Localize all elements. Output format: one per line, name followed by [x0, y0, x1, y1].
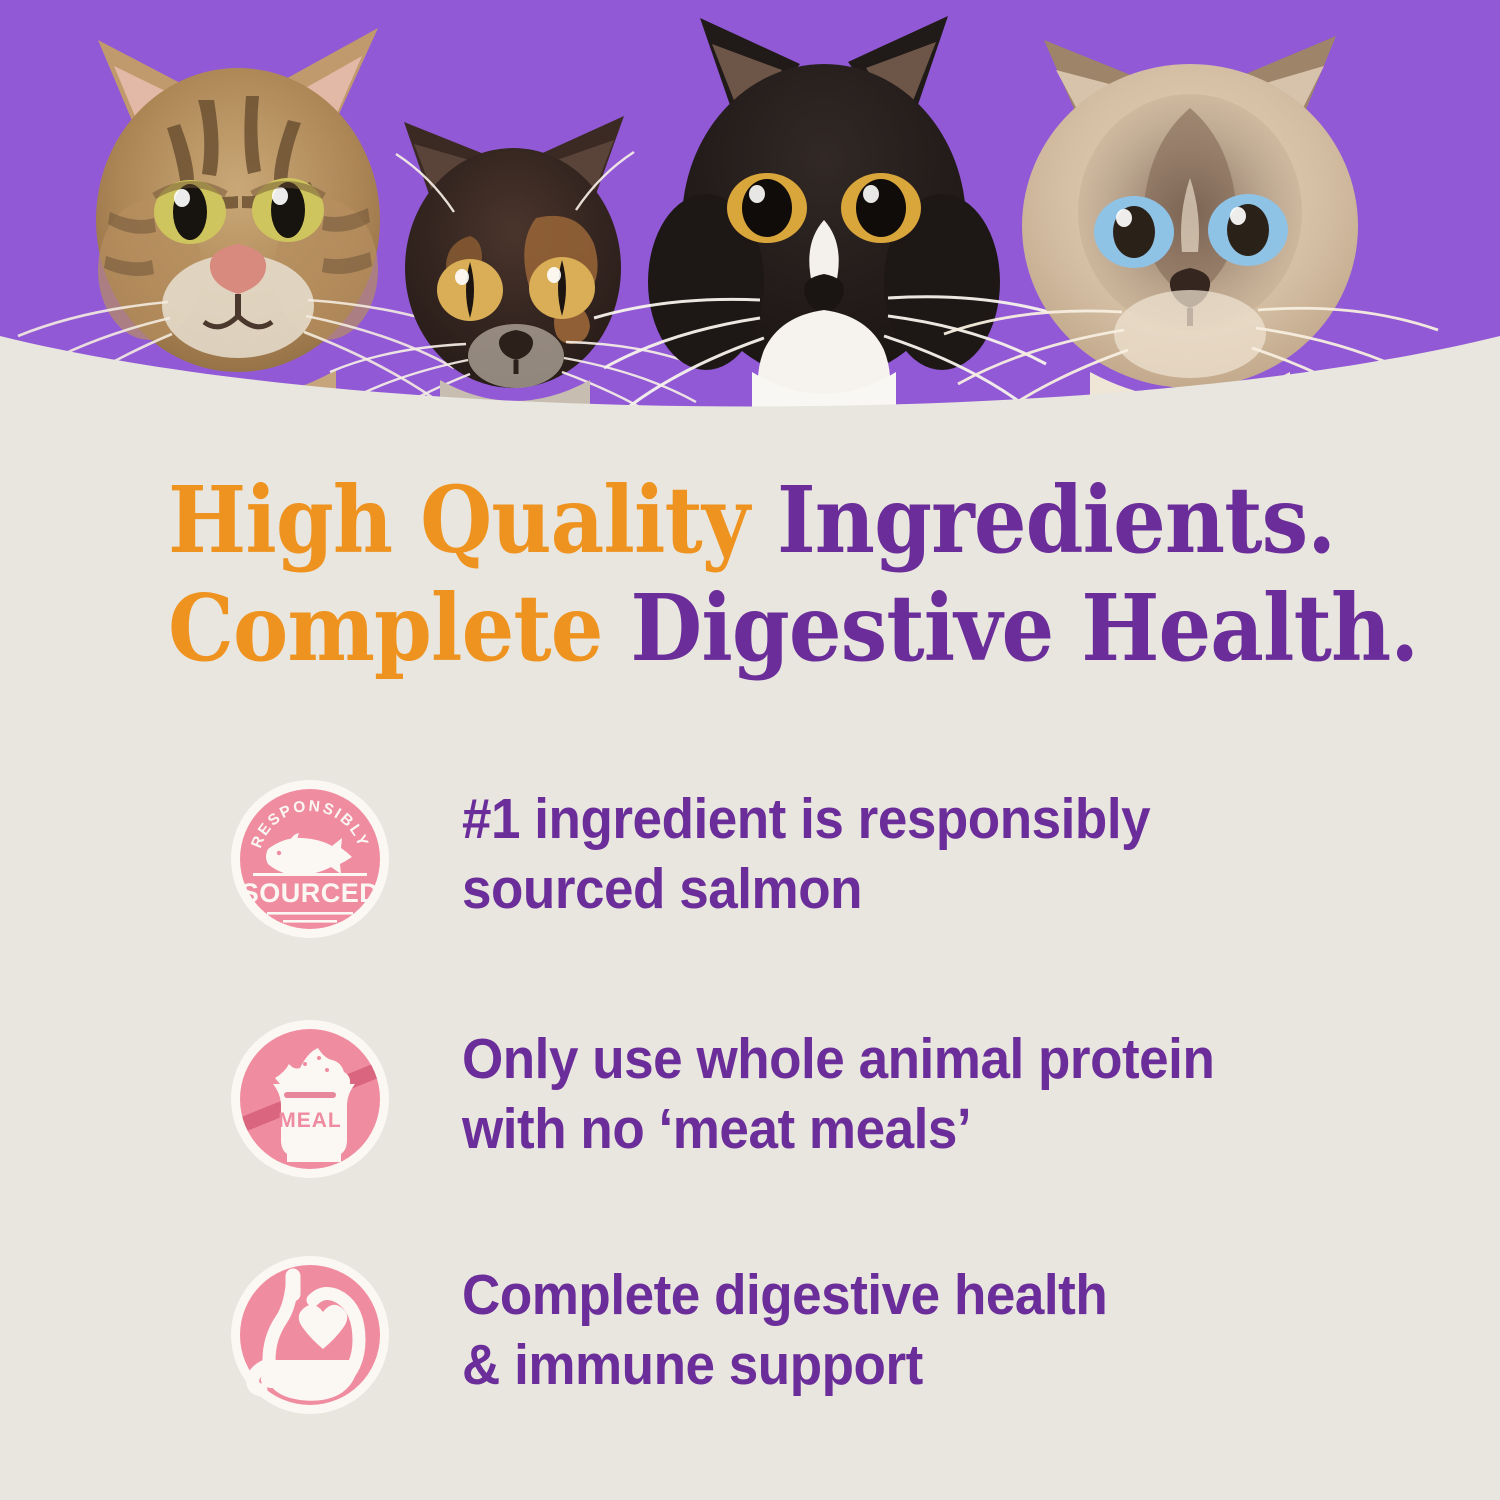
responsibly-sourced-fish-badge-icon: RESPONSIBLY SOURCED	[227, 776, 393, 942]
headline-line-1-purple: Ingredients.	[777, 466, 1335, 574]
feature-item-responsibly-sourced: RESPONSIBLY SOURCED	[0, 770, 1500, 1010]
cat-photo-banner	[0, 0, 1500, 420]
feature-text-digestive-health: Complete digestive health & immune suppo…	[462, 1260, 1107, 1400]
badge-main-text: SOURCED	[241, 878, 380, 908]
headline-line-1-orange: High Quality	[168, 466, 777, 574]
digestive-health-stomach-heart-badge-icon	[227, 1252, 393, 1418]
feature-text-no-meat-meals: Only use whole animal protein with no ‘m…	[462, 1024, 1214, 1164]
feature-item-no-meat-meals: MEAL Only use whole animal protein with …	[0, 1010, 1500, 1250]
headline-line-1: High Quality Ingredients.	[168, 466, 1302, 574]
headline-line-2: Complete Digestive Health.	[168, 574, 1302, 682]
product-feature-poster: High Quality Ingredients. Complete Diges…	[0, 0, 1500, 1500]
feature-list: RESPONSIBLY SOURCED	[0, 770, 1500, 1490]
headline-line-2-purple: Digestive Health.	[630, 574, 1418, 682]
badge-main-text: MEAL	[278, 1109, 342, 1132]
feature-item-digestive-health: Complete digestive health & immune suppo…	[0, 1250, 1500, 1490]
feature-text-responsibly-sourced: #1 ingredient is responsibly sourced sal…	[462, 784, 1150, 924]
no-meat-meal-bag-badge-icon: MEAL	[227, 1016, 393, 1182]
page-title: High Quality Ingredients. Complete Diges…	[168, 466, 1302, 682]
headline-line-2-orange: Complete	[168, 574, 630, 682]
beige-curve-divider	[0, 0, 1500, 420]
